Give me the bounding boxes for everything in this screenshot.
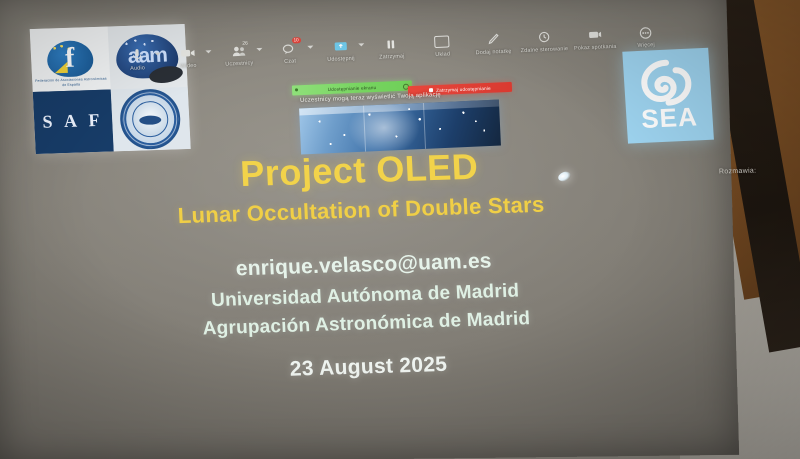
- shared-app-preview[interactable]: [299, 99, 501, 154]
- toolbar-label: Wideo: [180, 63, 197, 70]
- toolbar-label: Układ: [435, 51, 450, 58]
- share-screen-icon: [333, 38, 349, 55]
- microphone-icon: [132, 47, 142, 63]
- preview-highlight: [347, 99, 421, 154]
- federacion-caption: Federación de Asociaciones Astronómicas …: [35, 77, 107, 90]
- chat-unread-badge: 10: [291, 37, 300, 43]
- toolbar-button-meeting-view[interactable]: Pokaz spotkania: [569, 26, 621, 52]
- toolbar-label: Czat: [284, 58, 296, 65]
- federacion-logo: Federación de Asociaciones Astronómicas …: [30, 27, 110, 92]
- sharing-status-dot: [295, 88, 298, 91]
- circular-seal-icon: [119, 88, 182, 150]
- camera-icon: [180, 45, 196, 62]
- seal-logo: [110, 86, 190, 151]
- screenshot-root: Federación de Asociaciones Astronómicas …: [0, 0, 800, 459]
- toolbar-label: Więcej: [637, 42, 655, 49]
- sharing-indicator-label: Udostępnianie ekranu: [328, 84, 377, 91]
- pause-icon: [385, 36, 397, 52]
- annotate-pen-icon: [487, 31, 500, 48]
- more-ellipsis-icon: [639, 24, 653, 41]
- toolbar-button-chat[interactable]: 10 Czat: [264, 39, 316, 65]
- stars-decoration: [52, 45, 75, 58]
- active-speaker-label: Rozmawia:: [719, 168, 756, 176]
- toolbar-button-pause[interactable]: Zatrzymaj: [366, 35, 418, 61]
- toolbar-label: Zdalne sterowanie: [521, 46, 569, 54]
- toolbar-label: Pokaz spotkania: [574, 44, 617, 52]
- toolbar-button-participants[interactable]: 26 Uczestnicy: [213, 42, 265, 68]
- toolbar-button-audio[interactable]: Audio: [111, 46, 163, 72]
- toolbar-label: Uczestnicy: [225, 60, 253, 67]
- toolbar-label: Udostępnij: [327, 56, 355, 63]
- presentation-date: 23 August 2025: [0, 344, 739, 391]
- chevron-down-icon[interactable]: [205, 50, 211, 53]
- saf-logo-text: S A F: [42, 110, 104, 133]
- toolbar-button-annotate[interactable]: Dodaj notatkę: [467, 30, 519, 56]
- toolbar-button-more[interactable]: Więcej: [620, 23, 672, 49]
- chevron-down-icon[interactable]: [358, 43, 364, 46]
- participant-count-badge: 26: [242, 41, 248, 47]
- toolbar-label: Zatrzymaj: [379, 53, 405, 60]
- toolbar-button-video[interactable]: Wideo: [162, 44, 214, 70]
- remote-control-icon: [538, 29, 551, 46]
- federacion-mark-icon: [46, 40, 94, 77]
- toolbar-button-share[interactable]: Udostępnij: [315, 37, 367, 63]
- layout-frame: [434, 35, 450, 48]
- meeting-view-icon: [587, 26, 602, 43]
- toolbar-button-remote-control[interactable]: Zdalne sterowanie: [518, 28, 570, 54]
- stop-share-label: Zatrzymaj udostępnianie: [436, 85, 491, 92]
- chevron-down-icon[interactable]: [307, 46, 313, 49]
- toolbar-button-layout[interactable]: Układ: [416, 33, 468, 59]
- wedge-decoration: [54, 62, 68, 73]
- saf-logo: S A F: [33, 89, 113, 154]
- chevron-down-icon[interactable]: [154, 53, 160, 56]
- toolbar-label: Dodaj notatkę: [476, 49, 512, 57]
- slide-text-block: Project OLED Lunar Occultation of Double…: [0, 138, 739, 391]
- layout-icon: [434, 33, 450, 50]
- toolbar-label: Audio: [130, 65, 145, 72]
- chevron-down-icon[interactable]: [256, 48, 262, 51]
